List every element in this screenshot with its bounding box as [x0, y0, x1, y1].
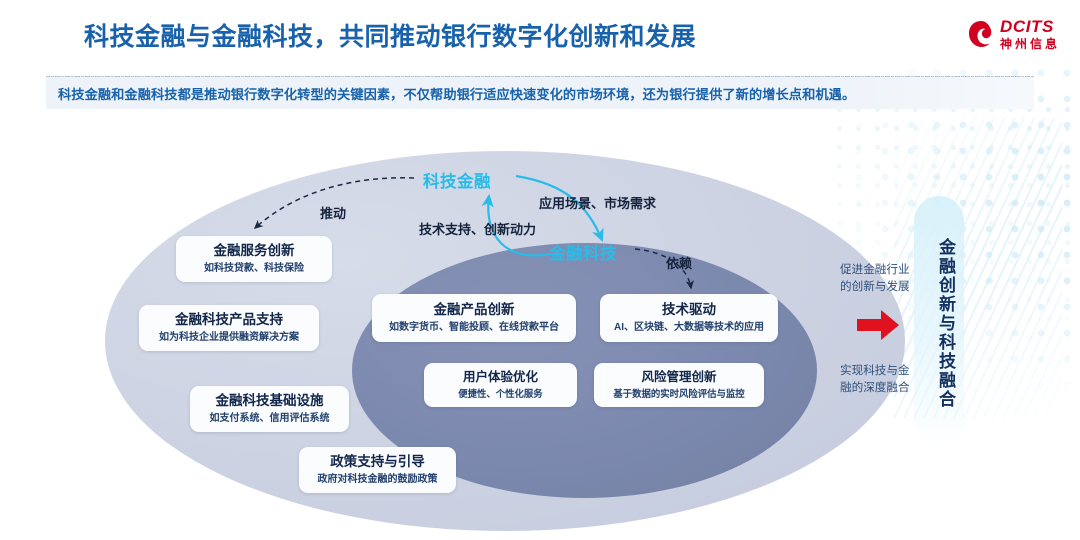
- label-jinrong-keji: 金融科技: [549, 240, 617, 264]
- subtitle-text: 科技金融和金融科技都是推动银行数字化转型的关键因素，不仅帮助银行适应快速变化的市…: [46, 84, 855, 103]
- card-title: 金融科技产品支持: [175, 312, 283, 329]
- card-policy-support-guidance[interactable]: 政策支持与引导 政府对科技金融的鼓励政策: [299, 447, 456, 493]
- card-title: 用户体验优化: [463, 370, 538, 386]
- logo-cn-text: 神州信息: [1000, 38, 1060, 50]
- annotation-support: 技术支持、创新动力: [419, 219, 536, 238]
- card-user-experience-optimization[interactable]: 用户体验优化 便捷性、个性化服务: [424, 363, 577, 407]
- card-subtitle: 如支付系统、信用评估系统: [210, 412, 330, 425]
- card-subtitle: 便捷性、个性化服务: [458, 388, 542, 400]
- subtitle-band: 科技金融和金融科技都是推动银行数字化转型的关键因素，不仅帮助银行适应快速变化的市…: [46, 76, 1034, 109]
- logo-en-text: DCITS: [1000, 18, 1060, 35]
- card-title: 金融产品创新: [434, 302, 515, 319]
- right-note-bottom: 实现科技与金 融的深度融合: [840, 363, 918, 397]
- label-keji-jinrong: 科技金融: [423, 168, 491, 192]
- card-title: 政策支持与引导: [330, 454, 425, 471]
- card-subtitle: 如为科技企业提供融资解决方案: [159, 331, 299, 344]
- card-technology-driven[interactable]: 技术驱动 AI、区块链、大数据等技术的应用: [600, 294, 778, 342]
- card-fintech-product-support[interactable]: 金融科技产品支持 如为科技企业提供融资解决方案: [139, 305, 319, 351]
- card-financial-product-innovation[interactable]: 金融产品创新 如数字货币、智能投顾、在线贷款平台: [372, 294, 576, 342]
- card-title: 金融服务创新: [214, 243, 295, 260]
- slide-canvas: 科技金融与金融科技，共同推动银行数字化创新和发展 DCITS 神州信息 科技金融…: [0, 0, 1080, 540]
- card-subtitle: AI、区块链、大数据等技术的应用: [614, 321, 764, 334]
- card-subtitle: 如数字货币、智能投顾、在线贷款平台: [389, 321, 559, 334]
- card-title: 风险管理创新: [641, 370, 716, 386]
- right-note-top: 促进金融行业 的创新与发展: [840, 262, 918, 296]
- red-arrow-icon: [855, 308, 901, 342]
- brand-logo: DCITS 神州信息: [968, 18, 1060, 50]
- card-risk-management-innovation[interactable]: 风险管理创新 基于数据的实时风险评估与监控: [594, 363, 764, 407]
- card-subtitle: 基于数据的实时风险评估与监控: [613, 388, 744, 400]
- card-subtitle: 政府对科技金融的鼓励政策: [318, 473, 438, 486]
- dcits-logo-icon: [968, 20, 994, 48]
- card-fintech-infrastructure[interactable]: 金融科技基础设施 如支付系统、信用评估系统: [190, 386, 349, 432]
- card-title: 金融科技基础设施: [216, 393, 324, 410]
- card-financial-service-innovation[interactable]: 金融服务创新 如科技贷款、科技保险: [176, 236, 332, 282]
- card-subtitle: 如科技贷款、科技保险: [204, 262, 304, 275]
- page-title: 科技金融与金融科技，共同推动银行数字化创新和发展: [84, 17, 696, 53]
- annotation-scenario: 应用场景、市场需求: [539, 193, 656, 212]
- subtitle-top-dashed-rule: [46, 76, 1034, 77]
- annotation-depend: 依赖: [666, 253, 692, 272]
- right-vertical-title: 金融创新与科技融合: [926, 238, 954, 409]
- card-title: 技术驱动: [662, 302, 716, 319]
- annotation-drive: 推动: [320, 203, 346, 222]
